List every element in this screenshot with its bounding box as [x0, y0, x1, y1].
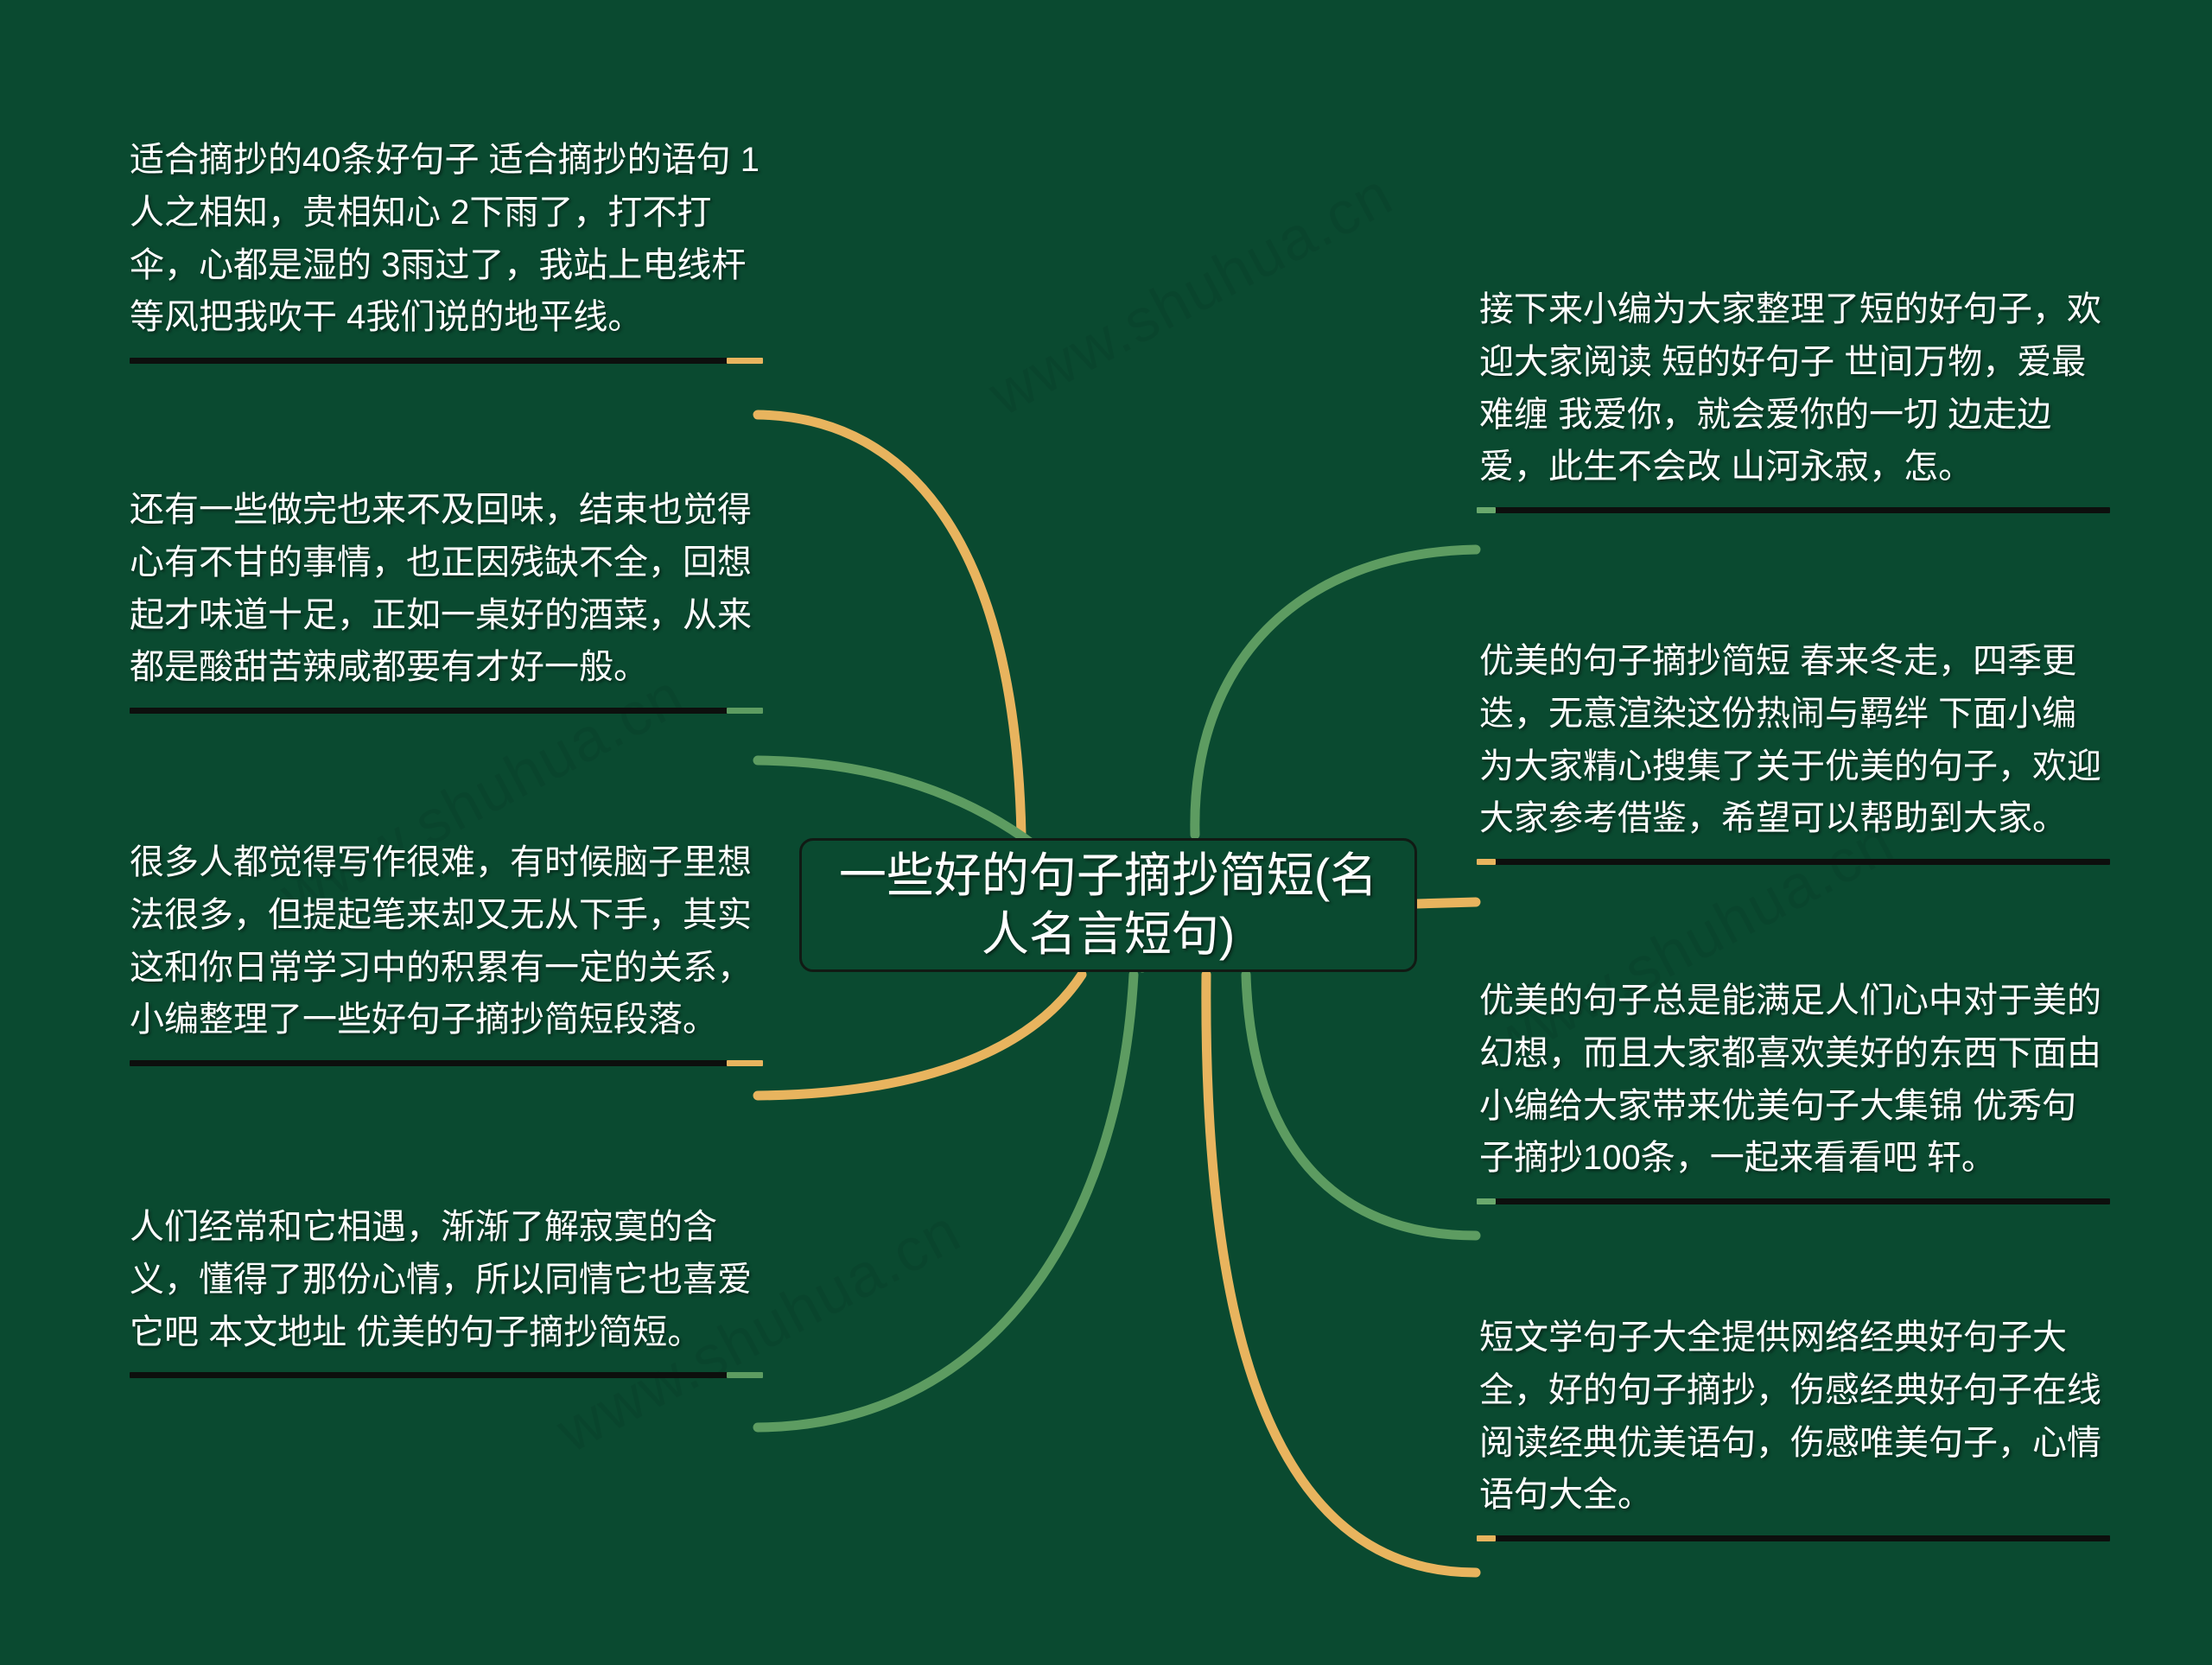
branch-left-2-underline	[130, 708, 760, 714]
branch-right-1-text: 接下来小编为大家整理了短的好句子，欢迎大家阅读 短的好句子 世间万物，爱最难缠 …	[1479, 283, 2110, 493]
central-topic-label: 一些好的句子摘抄简短(名人名言短句)	[802, 847, 1414, 963]
connector-left-1	[758, 415, 1021, 835]
branch-left-4-text: 人们经常和它相遇，渐渐了解寂寞的含义，懂得了那份心情，所以同情它也喜爱它吧 本文…	[130, 1201, 760, 1358]
branch-right-2-underline	[1479, 859, 2110, 865]
connector-right-1	[1195, 550, 1476, 835]
branch-left-1-text: 适合摘抄的40条好句子 适合摘抄的语句 1人之相知，贵相知心 2下雨了，打不打伞…	[130, 134, 760, 344]
branch-left-1-underline	[130, 358, 760, 364]
branch-left-1[interactable]: 适合摘抄的40条好句子 适合摘抄的语句 1人之相知，贵相知心 2下雨了，打不打伞…	[130, 134, 760, 364]
central-topic-node[interactable]: 一些好的句子摘抄简短(名人名言短句)	[799, 838, 1417, 972]
connector-right-3	[1246, 975, 1476, 1236]
branch-left-4[interactable]: 人们经常和它相遇，渐渐了解寂寞的含义，懂得了那份心情，所以同情它也喜爱它吧 本文…	[130, 1201, 760, 1378]
branch-left-3[interactable]: 很多人都觉得写作很难，有时候脑子里想法很多，但提起笔来却又无从下手，其实这和你日…	[130, 836, 760, 1066]
connector-left-4	[758, 975, 1134, 1427]
branch-left-3-text: 很多人都觉得写作很难，有时候脑子里想法很多，但提起笔来却又无从下手，其实这和你日…	[130, 836, 760, 1046]
branch-right-3-text: 优美的句子总是能满足人们心中对于美的幻想，而且大家都喜欢美好的东西下面由小编给大…	[1479, 975, 2110, 1185]
branch-left-2[interactable]: 还有一些做完也来不及回味，结束也觉得心有不甘的事情，也正因残缺不全，回想起才味道…	[130, 484, 760, 714]
connector-left-3	[758, 975, 1082, 1096]
branch-right-4[interactable]: 短文学句子大全提供网络经典好句子大全，好的句子摘抄，伤感经典好句子在线阅读经典优…	[1479, 1312, 2110, 1541]
branch-right-1-underline	[1479, 507, 2110, 513]
branch-left-3-underline	[130, 1060, 760, 1066]
branch-left-4-underline	[130, 1372, 760, 1378]
branch-right-1[interactable]: 接下来小编为大家整理了短的好句子，欢迎大家阅读 短的好句子 世间万物，爱最难缠 …	[1479, 283, 2110, 513]
branch-right-2[interactable]: 优美的句子摘抄简短 春来冬走，四季更迭，无意渲染这份热闹与羁绊 下面小编为大家精…	[1479, 635, 2110, 865]
connector-right-4	[1206, 975, 1476, 1573]
branch-right-4-text: 短文学句子大全提供网络经典好句子大全，好的句子摘抄，伤感经典好句子在线阅读经典优…	[1479, 1312, 2110, 1522]
connector-right-2	[1417, 902, 1476, 904]
branch-right-3[interactable]: 优美的句子总是能满足人们心中对于美的幻想，而且大家都喜欢美好的东西下面由小编给大…	[1479, 975, 2110, 1204]
branch-left-2-text: 还有一些做完也来不及回味，结束也觉得心有不甘的事情，也正因残缺不全，回想起才味道…	[130, 484, 760, 694]
branch-right-2-text: 优美的句子摘抄简短 春来冬走，四季更迭，无意渲染这份热闹与羁绊 下面小编为大家精…	[1479, 635, 2110, 845]
branch-right-4-underline	[1479, 1535, 2110, 1541]
branch-right-3-underline	[1479, 1198, 2110, 1204]
